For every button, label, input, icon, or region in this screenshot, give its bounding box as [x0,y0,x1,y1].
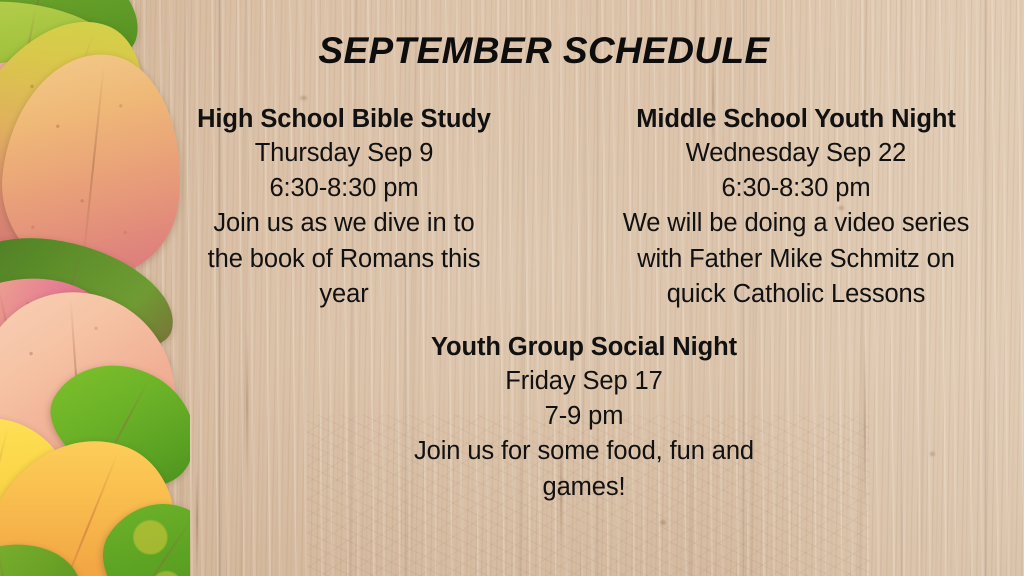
event-desc-line-1: We will be doing a video series [592,206,1000,241]
event-desc-line-2: with Father Mike Schmitz on [592,242,1000,277]
event-date: Thursday Sep 9 [168,136,520,171]
event-desc-line-3: year [168,277,520,312]
event-desc-line-2: the book of Romans this [168,242,520,277]
event-time: 6:30-8:30 pm [592,171,1000,206]
event-desc-line-2: games! [388,470,780,505]
event-block-high-school-bible-study: High School Bible Study Thursday Sep 9 6… [168,104,520,312]
event-date: Wednesday Sep 22 [592,136,1000,171]
event-block-middle-school-youth-night: Middle School Youth Night Wednesday Sep … [592,104,1000,312]
event-title: Middle School Youth Night [592,104,1000,134]
event-date: Friday Sep 17 [388,364,780,399]
event-title: High School Bible Study [168,104,520,134]
page-title: SEPTEMBER SCHEDULE [0,30,1024,72]
event-time: 7-9 pm [388,399,780,434]
event-desc-line-1: Join us as we dive in to [168,206,520,241]
page-title-text: SEPTEMBER SCHEDULE [318,30,769,72]
event-desc-line-1: Join us for some food, fun and [388,434,780,469]
september-schedule-flyer: SEPTEMBER SCHEDULE High School Bible Stu… [0,0,1024,576]
event-title: Youth Group Social Night [388,332,780,362]
event-desc-line-3: quick Catholic Lessons [592,277,1000,312]
autumn-leaves-decoration [0,0,190,576]
event-time: 6:30-8:30 pm [168,171,520,206]
event-block-youth-group-social-night: Youth Group Social Night Friday Sep 17 7… [388,332,780,505]
